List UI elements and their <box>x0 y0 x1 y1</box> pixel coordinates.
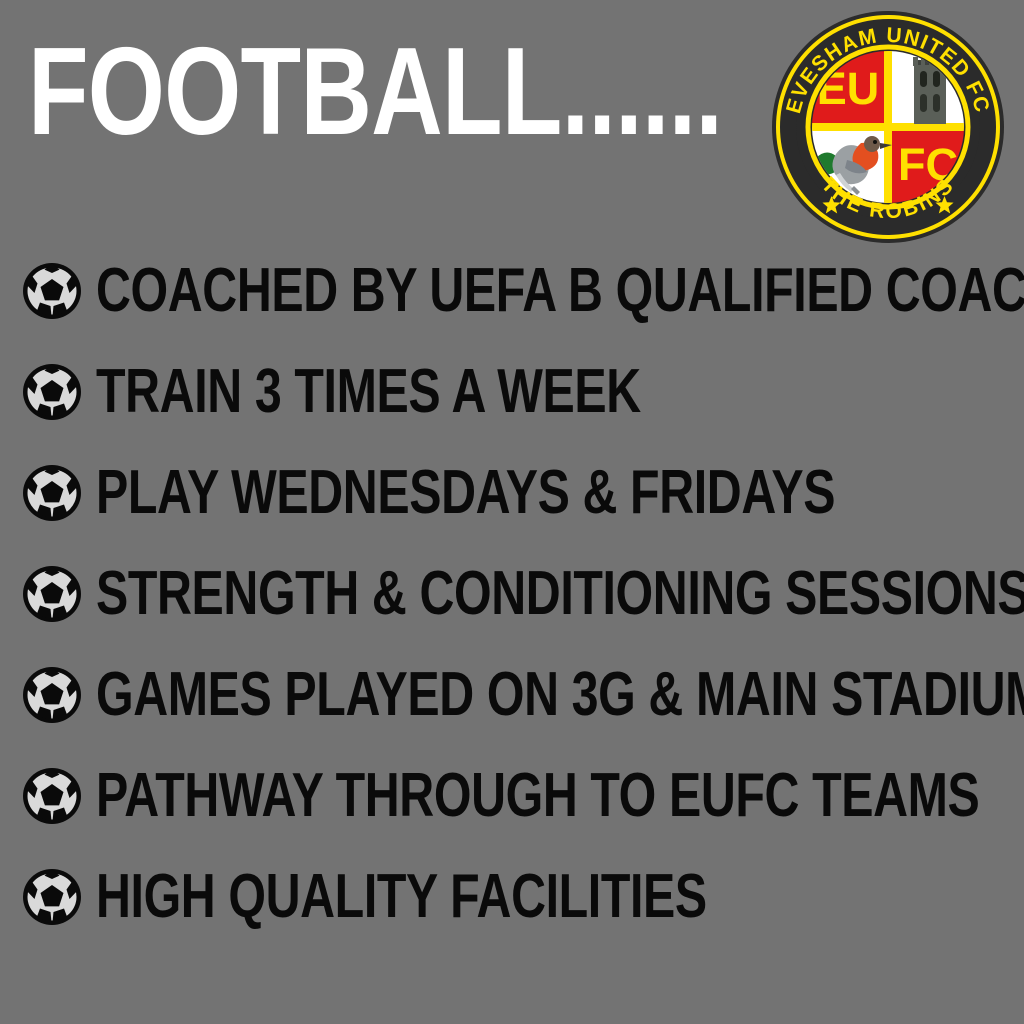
soccer-ball-icon <box>22 666 82 724</box>
list-item: PLAY WEDNESDAYS & FRIDAYS <box>22 442 1022 543</box>
soccer-ball-icon <box>22 464 82 522</box>
page-title: FOOTBALL...... <box>28 30 722 154</box>
feature-list: COACHED BY UEFA B QUALIFIED COACH TRAIN … <box>22 240 1022 947</box>
list-item: COACHED BY UEFA B QUALIFIED COACH <box>22 240 1022 341</box>
list-item-label: COACHED BY UEFA B QUALIFIED COACH <box>96 260 1024 322</box>
list-item-label: TRAIN 3 TIMES A WEEK <box>96 361 641 423</box>
list-item-label: HIGH QUALITY FACILITIES <box>96 866 707 928</box>
soccer-ball-icon <box>22 767 82 825</box>
list-item: PATHWAY THROUGH TO EUFC TEAMS <box>22 745 1022 846</box>
soccer-ball-icon <box>22 363 82 421</box>
list-item-label: GAMES PLAYED ON 3G & MAIN STADIUM PITCHE… <box>96 664 1024 726</box>
list-item-label: PLAY WEDNESDAYS & FRIDAYS <box>96 462 835 524</box>
football-promo-poster: FOOTBALL...... <box>0 0 1024 1024</box>
list-item: GAMES PLAYED ON 3G & MAIN STADIUM PITCHE… <box>22 644 1022 745</box>
evesham-united-fc-crest: EU FC EVESHAM UNITED FC THE ROBINS <box>762 8 1014 246</box>
soccer-ball-icon <box>22 565 82 623</box>
list-item: TRAIN 3 TIMES A WEEK <box>22 341 1022 442</box>
list-item: STRENGTH & CONDITIONING SESSIONS <box>22 543 1022 644</box>
list-item-label: PATHWAY THROUGH TO EUFC TEAMS <box>96 765 979 827</box>
list-item: HIGH QUALITY FACILITIES <box>22 846 1022 947</box>
soccer-ball-icon <box>22 262 82 320</box>
list-item-label: STRENGTH & CONDITIONING SESSIONS <box>96 563 1024 625</box>
soccer-ball-icon <box>22 868 82 926</box>
